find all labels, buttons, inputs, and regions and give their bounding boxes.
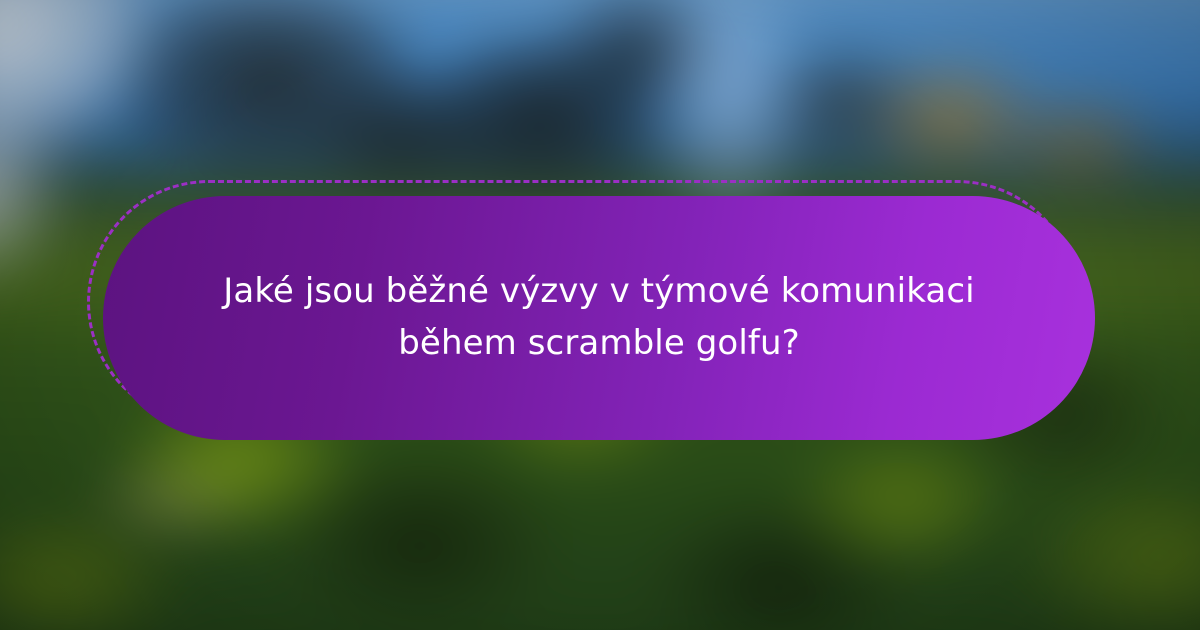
question-card: Jaké jsou běžné výzvy v týmové komunikac… (103, 196, 1095, 440)
question-text: Jaké jsou běžné výzvy v týmové komunikac… (129, 266, 1069, 369)
card-body: Jaké jsou běžné výzvy v týmové komunikac… (103, 196, 1095, 440)
question-line-1: Jaké jsou běžné výzvy v týmové komunikac… (223, 271, 974, 311)
question-line-2: během scramble golfu? (398, 323, 799, 363)
social-card-canvas: Jaké jsou běžné výzvy v týmové komunikac… (0, 0, 1200, 630)
